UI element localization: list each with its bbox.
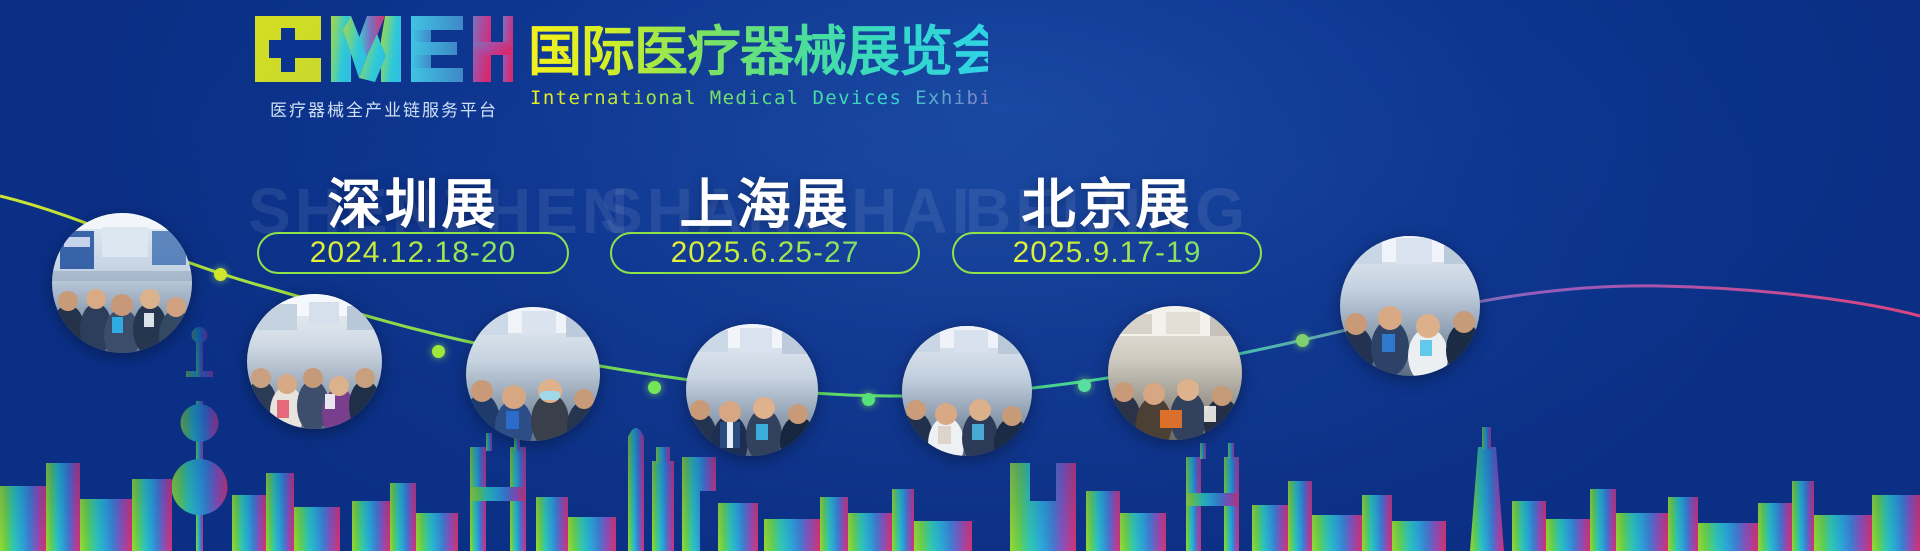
date-pill-beijing[interactable]: 2025.9.17-19 — [952, 232, 1262, 274]
date-pill-shenzhen[interactable]: 2024.12.18-20 — [257, 232, 569, 274]
event-title-block: 国际医疗器械展览会 International Medical Devices … — [528, 20, 988, 116]
event-title-chinese-text: 国际医疗器械展览会 — [528, 20, 988, 82]
date-text-beijing: 2025.9.17-19 — [1013, 236, 1202, 270]
photo-circle — [466, 307, 600, 441]
event-title-english-text: International Medical Devices Exhibition… — [530, 87, 988, 109]
photo-circle — [247, 294, 382, 429]
connector-node — [648, 381, 661, 394]
connector-node — [432, 345, 445, 358]
photo-circle — [686, 324, 818, 456]
city-name-beijing: 北京展 — [942, 160, 1272, 239]
photo-circle — [902, 326, 1032, 456]
connector-node — [1078, 379, 1091, 392]
date-pill-shanghai[interactable]: 2025.6.25-27 — [610, 232, 920, 274]
connector-node — [1296, 334, 1309, 347]
city-name-shenzhen: 深圳展 — [248, 160, 578, 239]
event-title-english-art: International Medical Devices Exhibition… — [528, 84, 988, 112]
city-editions-row: SHENZHEN 深圳展 2024.12.18-20 SHANGHAI 上海展 … — [0, 150, 1920, 290]
logo-tagline: 医疗器械全产业链服务平台 — [255, 96, 513, 121]
cmeh-logo[interactable]: 医疗器械全产业链服务平台 — [255, 16, 513, 116]
city-name-shanghai: 上海展 — [600, 160, 930, 239]
date-text-shenzhen: 2024.12.18-20 — [310, 236, 517, 270]
date-text-shanghai: 2025.6.25-27 — [671, 236, 860, 270]
banner-stage: 医疗器械全产业链服务平台 国际医疗器械展览会 — [0, 0, 1920, 551]
event-title-chinese-art: 国际医疗器械展览会 — [528, 20, 988, 82]
header-band: 医疗器械全产业链服务平台 国际医疗器械展览会 — [0, 8, 1920, 116]
photo-circle — [1108, 306, 1242, 440]
cmeh-wordmark-icon — [255, 16, 513, 94]
connector-node — [862, 393, 875, 406]
